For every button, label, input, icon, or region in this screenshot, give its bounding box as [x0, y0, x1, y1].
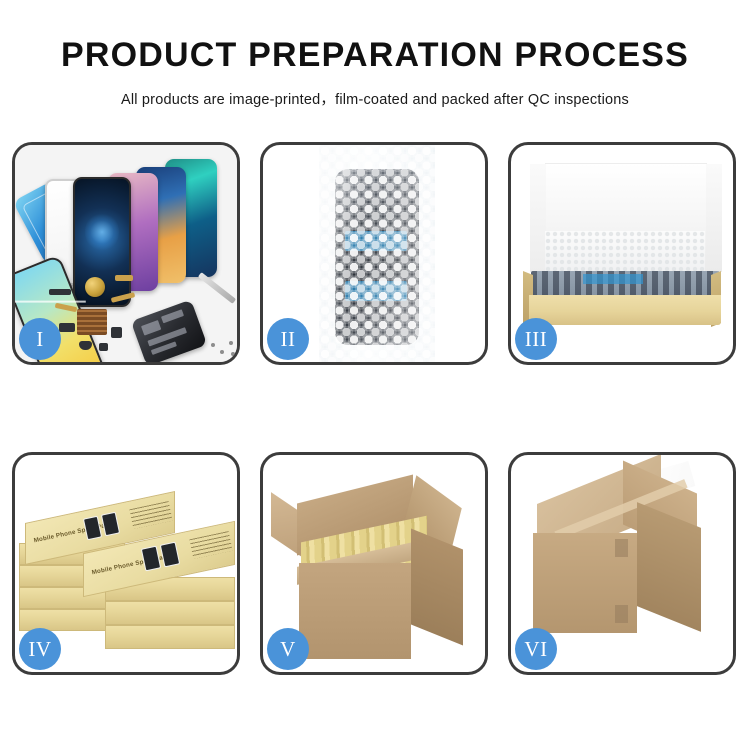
step-numeral-badge-4: IV [19, 628, 61, 670]
page-title: PRODUCT PREPARATION PROCESS [0, 38, 750, 72]
step-panel-6: VI [508, 452, 736, 675]
header: PRODUCT PREPARATION PROCESS All products… [0, 0, 750, 109]
film-gloss-overlay [319, 145, 435, 362]
step-numeral-badge-1: I [19, 318, 61, 360]
step-panel-2: II [260, 142, 488, 365]
page-subtitle: All products are image-printed，film-coat… [0, 88, 750, 109]
step-panel-1: I [12, 142, 240, 365]
speaker-coil-icon [85, 277, 105, 297]
foam-padding-icon [545, 231, 705, 273]
process-steps-grid: I II III [12, 142, 738, 676]
small-part-icon [49, 289, 71, 295]
screws-icon [211, 341, 237, 357]
small-part-icon [59, 323, 75, 332]
kraft-tray-front [529, 295, 721, 325]
carton-side-face [411, 528, 463, 645]
step-numeral-badge-3: III [515, 318, 557, 360]
step-panel-5: V [260, 452, 488, 675]
box-edge [105, 601, 235, 625]
box-edge [105, 625, 235, 649]
step-panel-3: III [508, 142, 736, 365]
small-part-icon [111, 327, 122, 338]
connector-grid-icon [77, 309, 107, 335]
small-part-icon [99, 343, 108, 351]
wrapped-goods-row-icon [531, 271, 719, 297]
step-numeral-badge-5: V [267, 628, 309, 670]
carton-handle-notch [615, 539, 628, 557]
step-numeral-badge-6: VI [515, 628, 557, 670]
flex-cable-icon [115, 275, 133, 281]
step-numeral-badge-2: II [267, 318, 309, 360]
step-panel-4: Mobile Phone Spare Parts Mobile Phone Sp… [12, 452, 240, 675]
carton-handle-notch [615, 605, 628, 623]
carton-front-face [299, 563, 411, 659]
